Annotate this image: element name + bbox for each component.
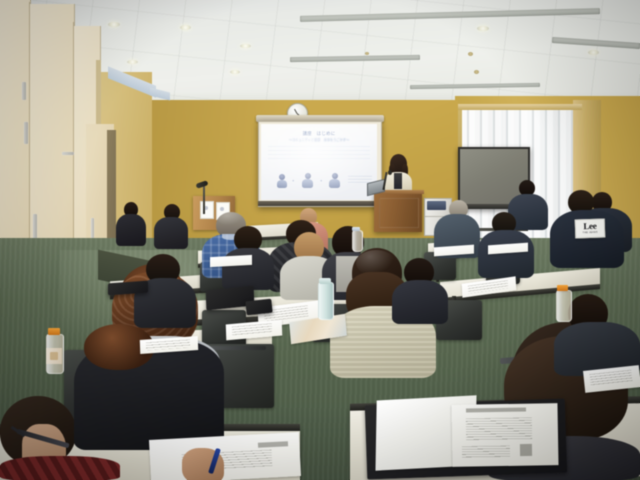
page-text-lines [462,446,510,459]
ceiling-downlight [180,25,191,30]
lee-logo-text: Lee [583,222,596,231]
lee-logo-patch: Lee THE JEANS [575,218,606,238]
ceiling-downlight [477,26,489,31]
bottle-cap [352,227,360,231]
hair-highlight [218,212,244,226]
bottle-cap [48,328,60,335]
panel-sheet-mark [220,207,224,211]
door-handle[interactable] [91,218,94,238]
sprinkler-head [474,70,479,74]
sprinkler-head [365,52,369,55]
attendee-body [0,456,120,480]
ceiling-downlight [588,50,599,55]
ceiling-downlight [230,70,240,74]
attendee-body [478,230,534,278]
water-bottle [556,290,572,322]
attendee-body [154,217,188,249]
lectern-front-panel [379,198,419,228]
chair-frame [208,346,266,350]
sprinkler-head [468,52,473,56]
microphone-stand[interactable] [203,186,205,214]
presenter-inner-top [394,173,402,189]
lee-logo-sublabel: THE JEANS [583,232,598,235]
bottle-cap [557,285,568,291]
tumbler-lid [319,278,331,284]
screen-projection-glare [261,124,377,200]
ceiling-downlight [127,60,138,64]
ceiling-downlight [108,22,120,27]
ceiling-downlight [240,44,251,48]
thermos-tumbler [318,282,334,320]
door-handle[interactable] [62,152,74,155]
window-head-trim [458,104,582,110]
page-text-lines [466,417,532,440]
page-table-block [520,444,532,456]
screen-bottom-bar [258,201,380,206]
attendee-body [392,280,448,324]
microphone-head-icon [388,170,392,175]
projector-unit [427,201,446,210]
water-bottle [352,230,363,252]
bottle-label-mark [50,352,58,360]
photo-canvas: 講座 はじめに ～コミュニティと健康 身体をうごかす～ + + [0,0,640,480]
tote-bag [245,299,272,316]
attendee-body [116,214,146,246]
